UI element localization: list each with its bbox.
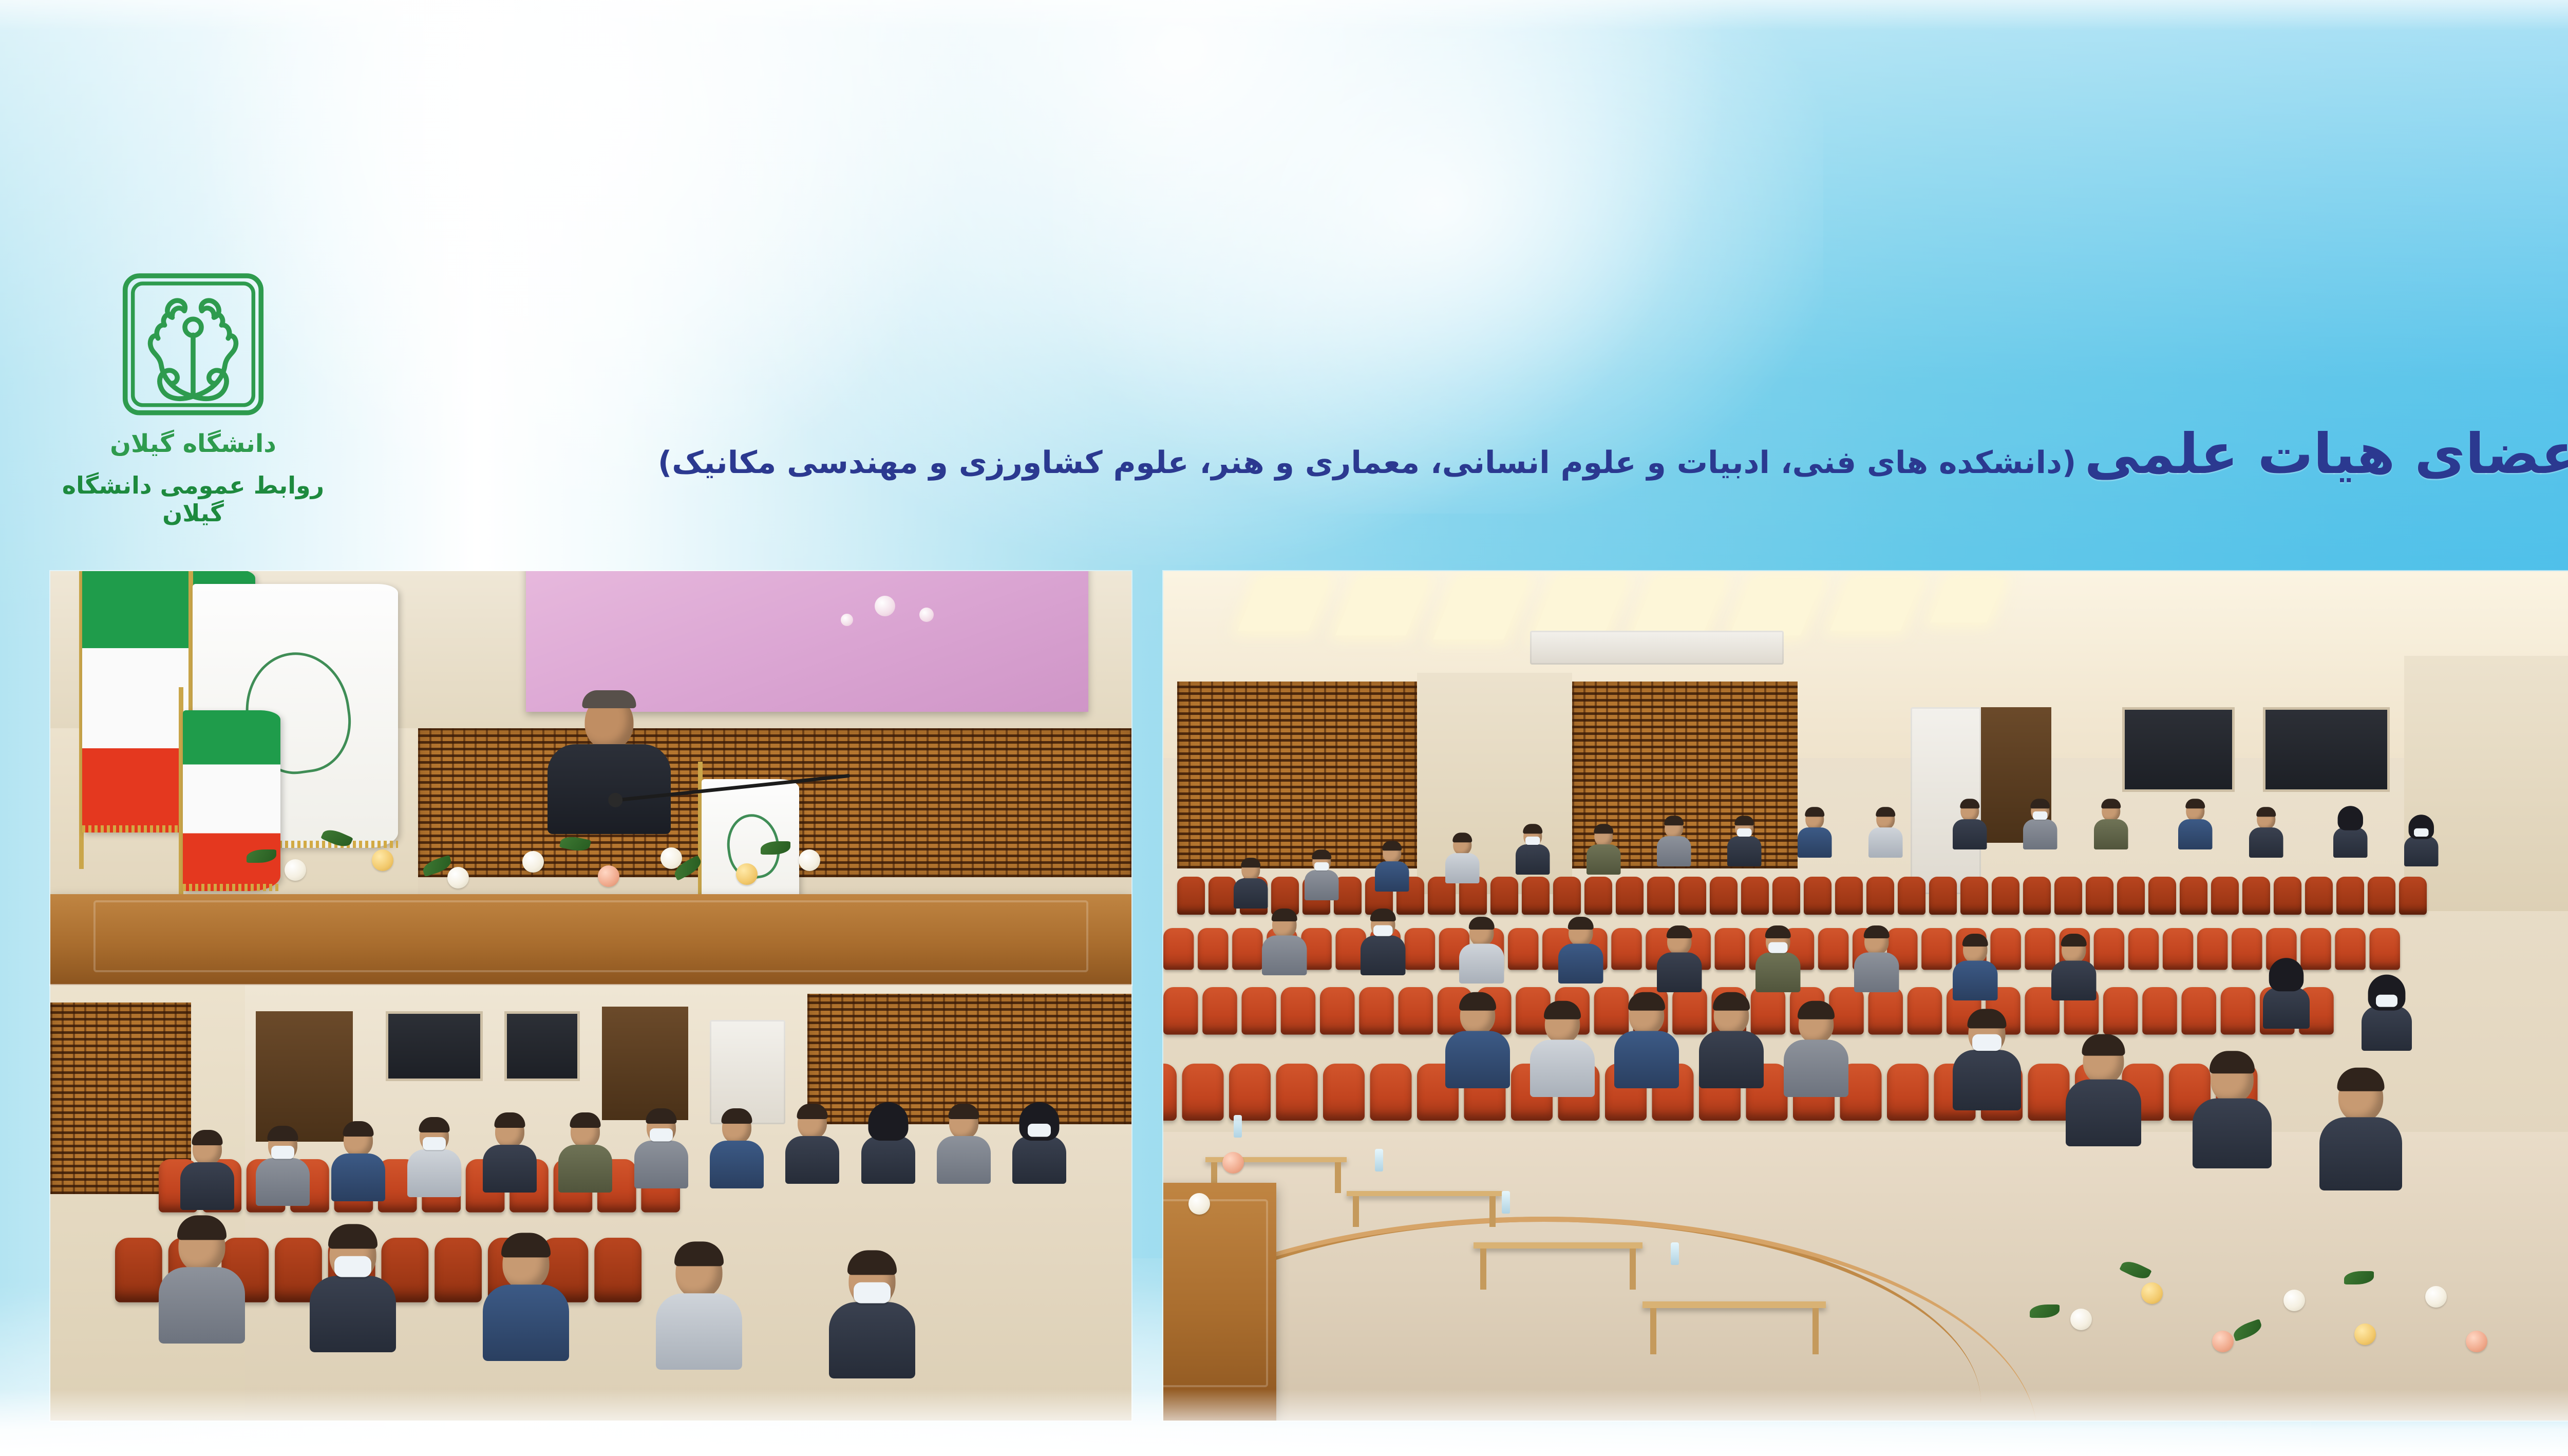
banner-title: نشست هم اندیشی رئیس دانشگاه با اعضای هیا… — [364, 425, 2568, 483]
event-banner: دانشگاه گیلان روابط عمومی دانشگاه گیلان … — [0, 0, 2568, 1456]
top-fade-overlay — [0, 0, 2568, 31]
photo-hall-wide — [1163, 571, 2568, 1421]
title-subtitle-text: (دانشکده های فنی، ادبیات و علوم انسانی، … — [658, 445, 2085, 481]
photo-column-center — [1163, 571, 2568, 1421]
university-logo-block: دانشگاه گیلان روابط عمومی دانشگاه گیلان — [49, 267, 337, 527]
university-wordmark: دانشگاه گیلان — [49, 429, 337, 458]
public-relations-label: روابط عمومی دانشگاه گیلان — [49, 471, 337, 527]
university-of-guilan-emblem-icon — [108, 267, 278, 431]
title-main-text: نشست هم اندیشی رئیس دانشگاه با اعضای هیا… — [2084, 422, 2568, 486]
photo-column-left — [50, 571, 1131, 1421]
photo-podium-speech — [50, 571, 1131, 985]
photo-grid — [50, 571, 2568, 1421]
photo-audience-left — [50, 985, 1131, 1421]
